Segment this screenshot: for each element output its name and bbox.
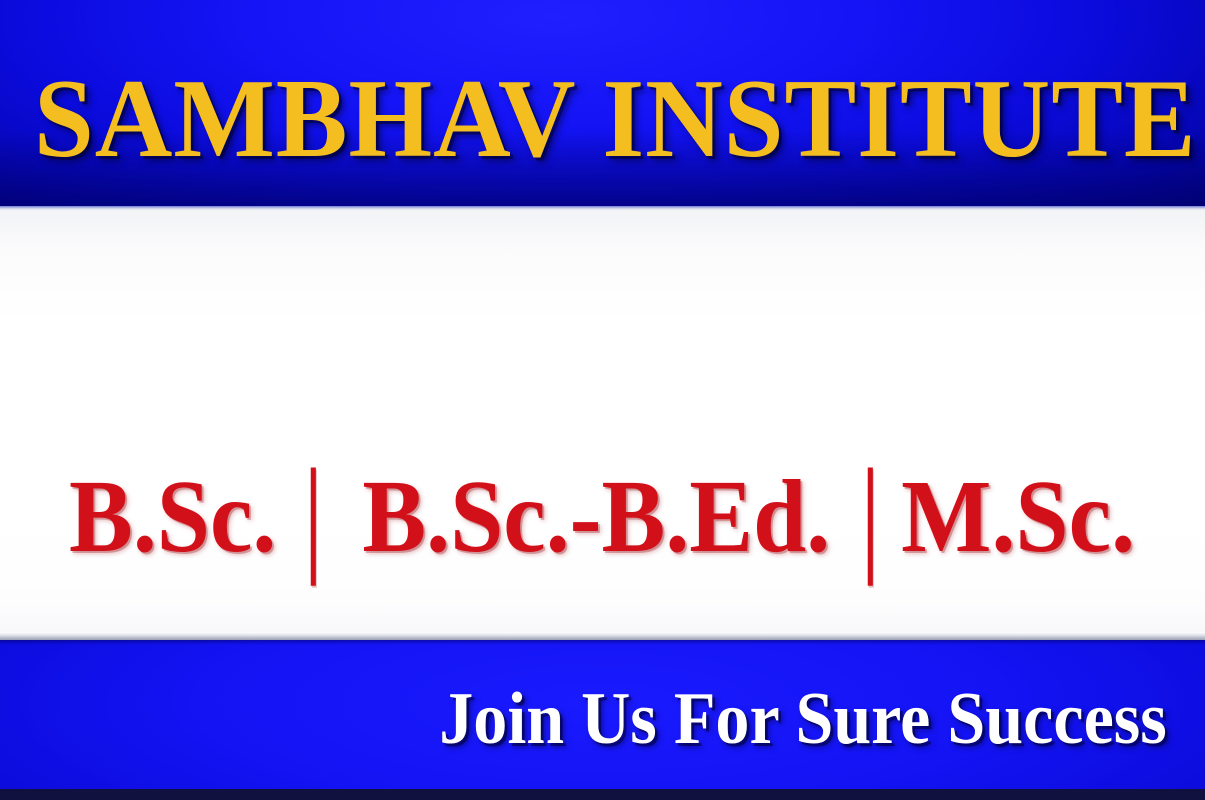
- panel-divider-line: [0, 632, 1205, 640]
- course-item-msc: M.Sc.: [901, 462, 1135, 572]
- course-item-bsc-bed: B.Sc.-B.Ed.: [362, 462, 830, 572]
- institute-advertisement-banner: SAMBHAV INSTITUTE B.Sc.|B.Sc.-B.Ed.|M.Sc…: [0, 0, 1205, 800]
- course-row-1: B.Sc.|B.Sc.-B.Ed.|M.Sc.: [0, 462, 1205, 572]
- tagline-band: Join Us For Sure Success: [0, 639, 1205, 791]
- tagline-text: Join Us For Sure Success: [439, 680, 1167, 758]
- header-divider-line: [0, 206, 1205, 210]
- footer-edge-strip: [0, 789, 1205, 800]
- institute-name-title: SAMBHAV INSTITUTE: [34, 60, 1197, 178]
- courses-panel: B.Sc.|B.Sc.-B.Ed.|M.Sc. NET|IIT-JAM|11th…: [0, 210, 1205, 638]
- header-band: SAMBHAV INSTITUTE: [0, 0, 1205, 208]
- course-item-bsc: B.Sc.: [69, 462, 276, 572]
